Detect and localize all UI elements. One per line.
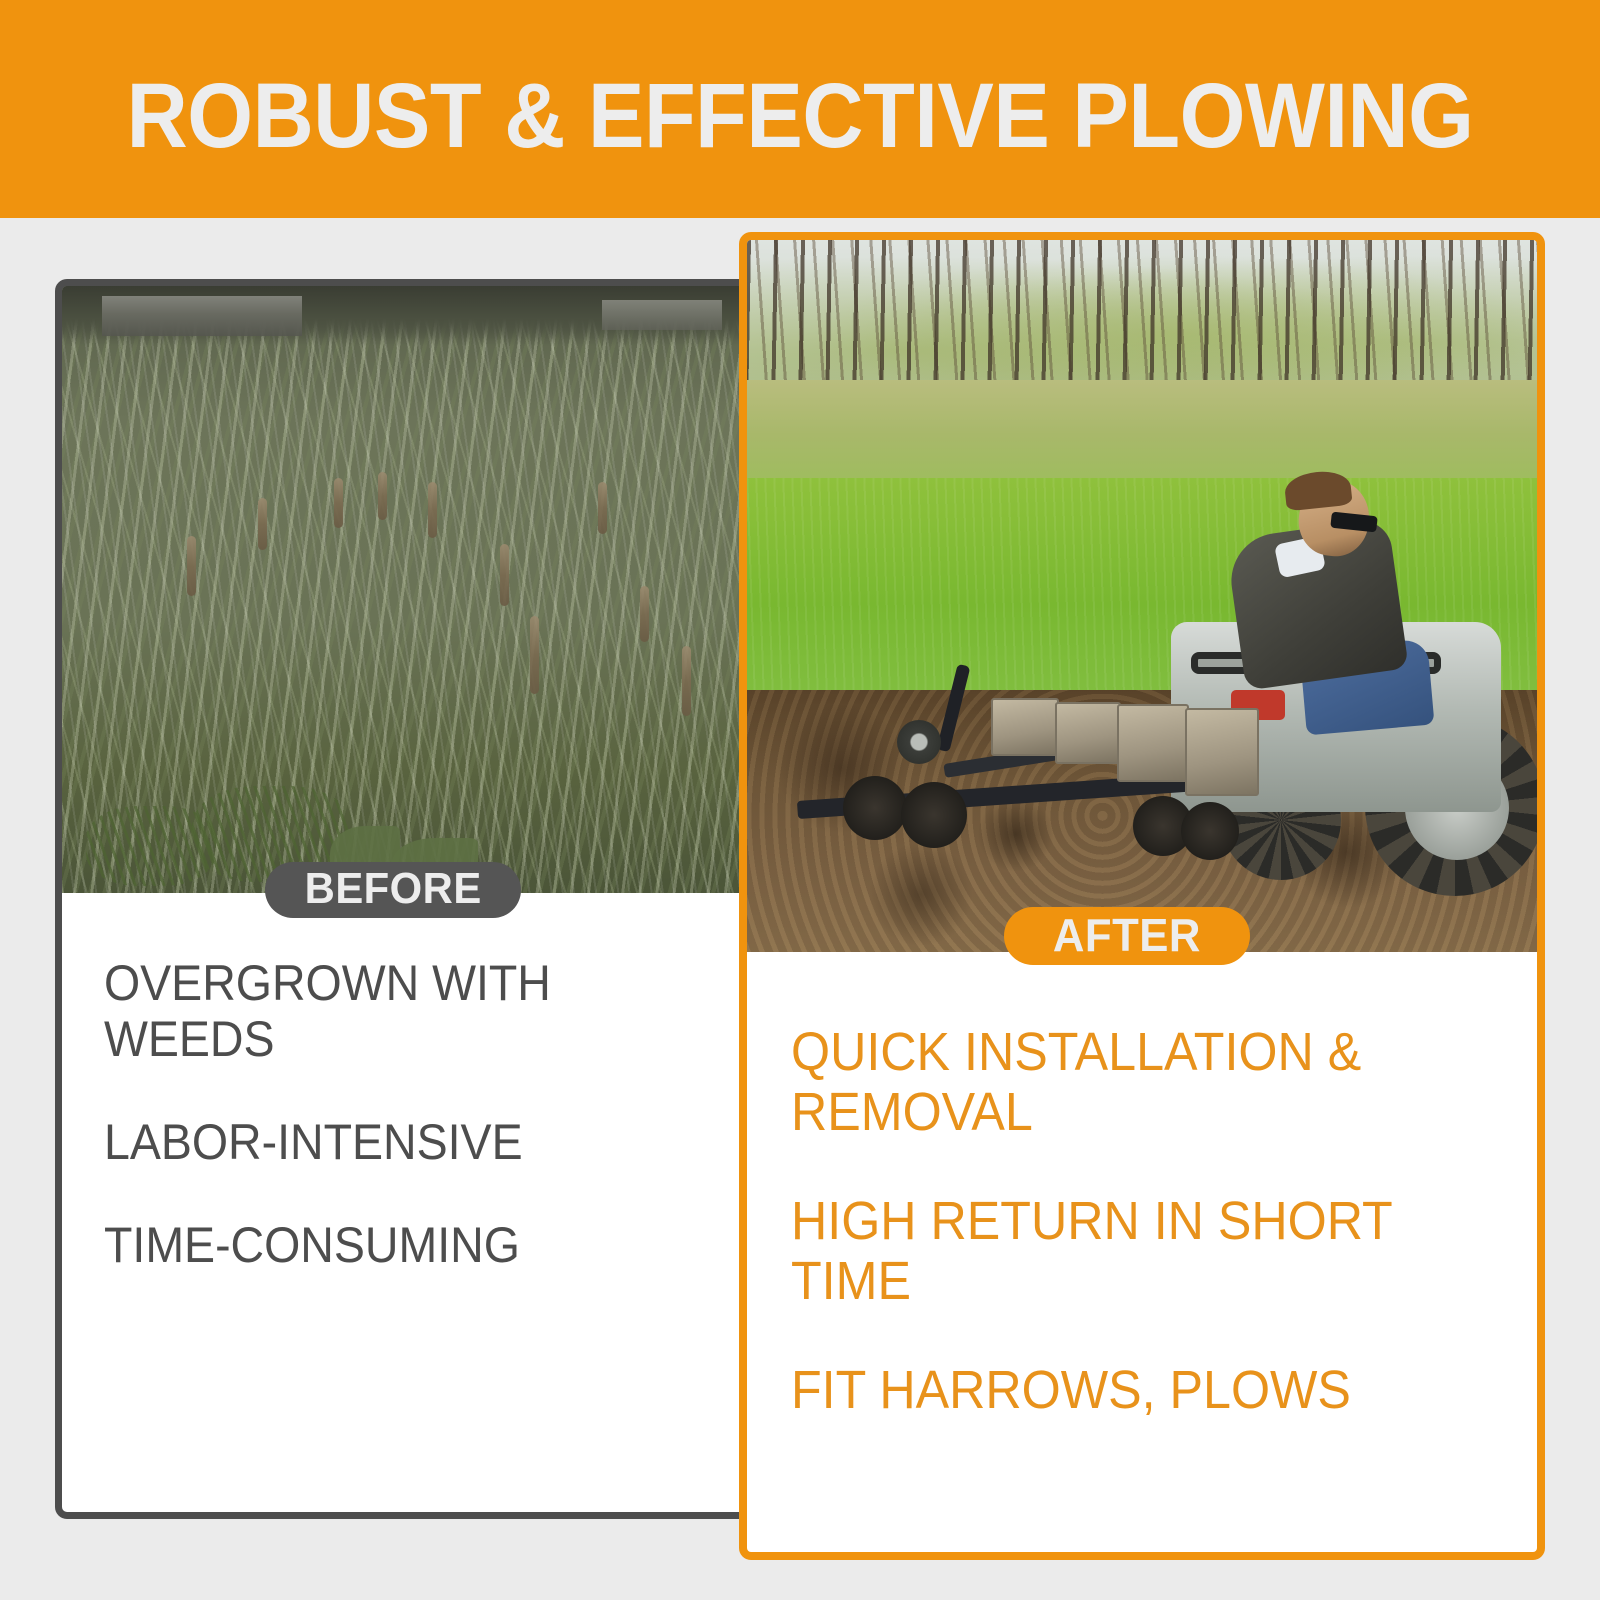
treeline xyxy=(747,240,1537,398)
header-banner: ROBUST & EFFECTIVE PLOWING xyxy=(0,0,1600,218)
cattail-icon xyxy=(378,472,387,520)
list-item: OVERGROWN WITH WEEDS xyxy=(104,955,669,1067)
plow-disc xyxy=(901,782,967,848)
cattail-icon xyxy=(598,482,607,534)
cattail-icon xyxy=(640,586,649,642)
cattail-icon xyxy=(682,646,691,716)
plow-weight-box xyxy=(991,698,1059,756)
atv-plowing-image xyxy=(747,240,1537,952)
list-item: QUICK INSTALLATION & REMOVAL xyxy=(791,1022,1444,1143)
far-grass xyxy=(747,380,1537,490)
list-item: HIGH RETURN IN SHORT TIME xyxy=(791,1191,1444,1312)
cattail-icon xyxy=(530,616,539,694)
plow-disc xyxy=(843,776,907,840)
plow-weight-box xyxy=(1185,708,1259,796)
before-benefit-list: OVERGROWN WITH WEEDS LABOR-INTENSIVE TIM… xyxy=(62,893,753,1273)
list-item: LABOR-INTENSIVE xyxy=(104,1114,669,1170)
plow-weight-box xyxy=(1117,704,1189,782)
after-photo xyxy=(747,240,1537,952)
fern-leaf xyxy=(86,806,216,886)
cattail-icon xyxy=(428,482,437,538)
after-card: QUICK INSTALLATION & REMOVAL HIGH RETURN… xyxy=(739,232,1545,1560)
overgrown-weeds-image xyxy=(62,286,753,893)
cattail-icon xyxy=(187,536,196,596)
before-badge-label: BEFORE xyxy=(304,864,481,917)
after-badge-label: AFTER xyxy=(1053,908,1201,965)
cattail-icon xyxy=(258,498,267,550)
background-house-secondary xyxy=(602,300,722,330)
plow-disc xyxy=(1181,802,1239,860)
list-item: FIT HARROWS, PLOWS xyxy=(791,1360,1444,1420)
list-item: TIME-CONSUMING xyxy=(104,1217,669,1273)
cattail-icon xyxy=(500,544,509,606)
plow-gauge-wheel xyxy=(897,720,941,764)
plow-weight-box xyxy=(1055,702,1121,764)
cattail-icon xyxy=(334,478,343,528)
after-badge: AFTER xyxy=(1004,907,1250,965)
after-benefit-list: QUICK INSTALLATION & REMOVAL HIGH RETURN… xyxy=(747,952,1537,1420)
background-house xyxy=(102,296,302,336)
before-photo xyxy=(62,286,753,893)
page-title: ROBUST & EFFECTIVE PLOWING xyxy=(127,56,1474,162)
before-badge: BEFORE xyxy=(265,862,521,918)
